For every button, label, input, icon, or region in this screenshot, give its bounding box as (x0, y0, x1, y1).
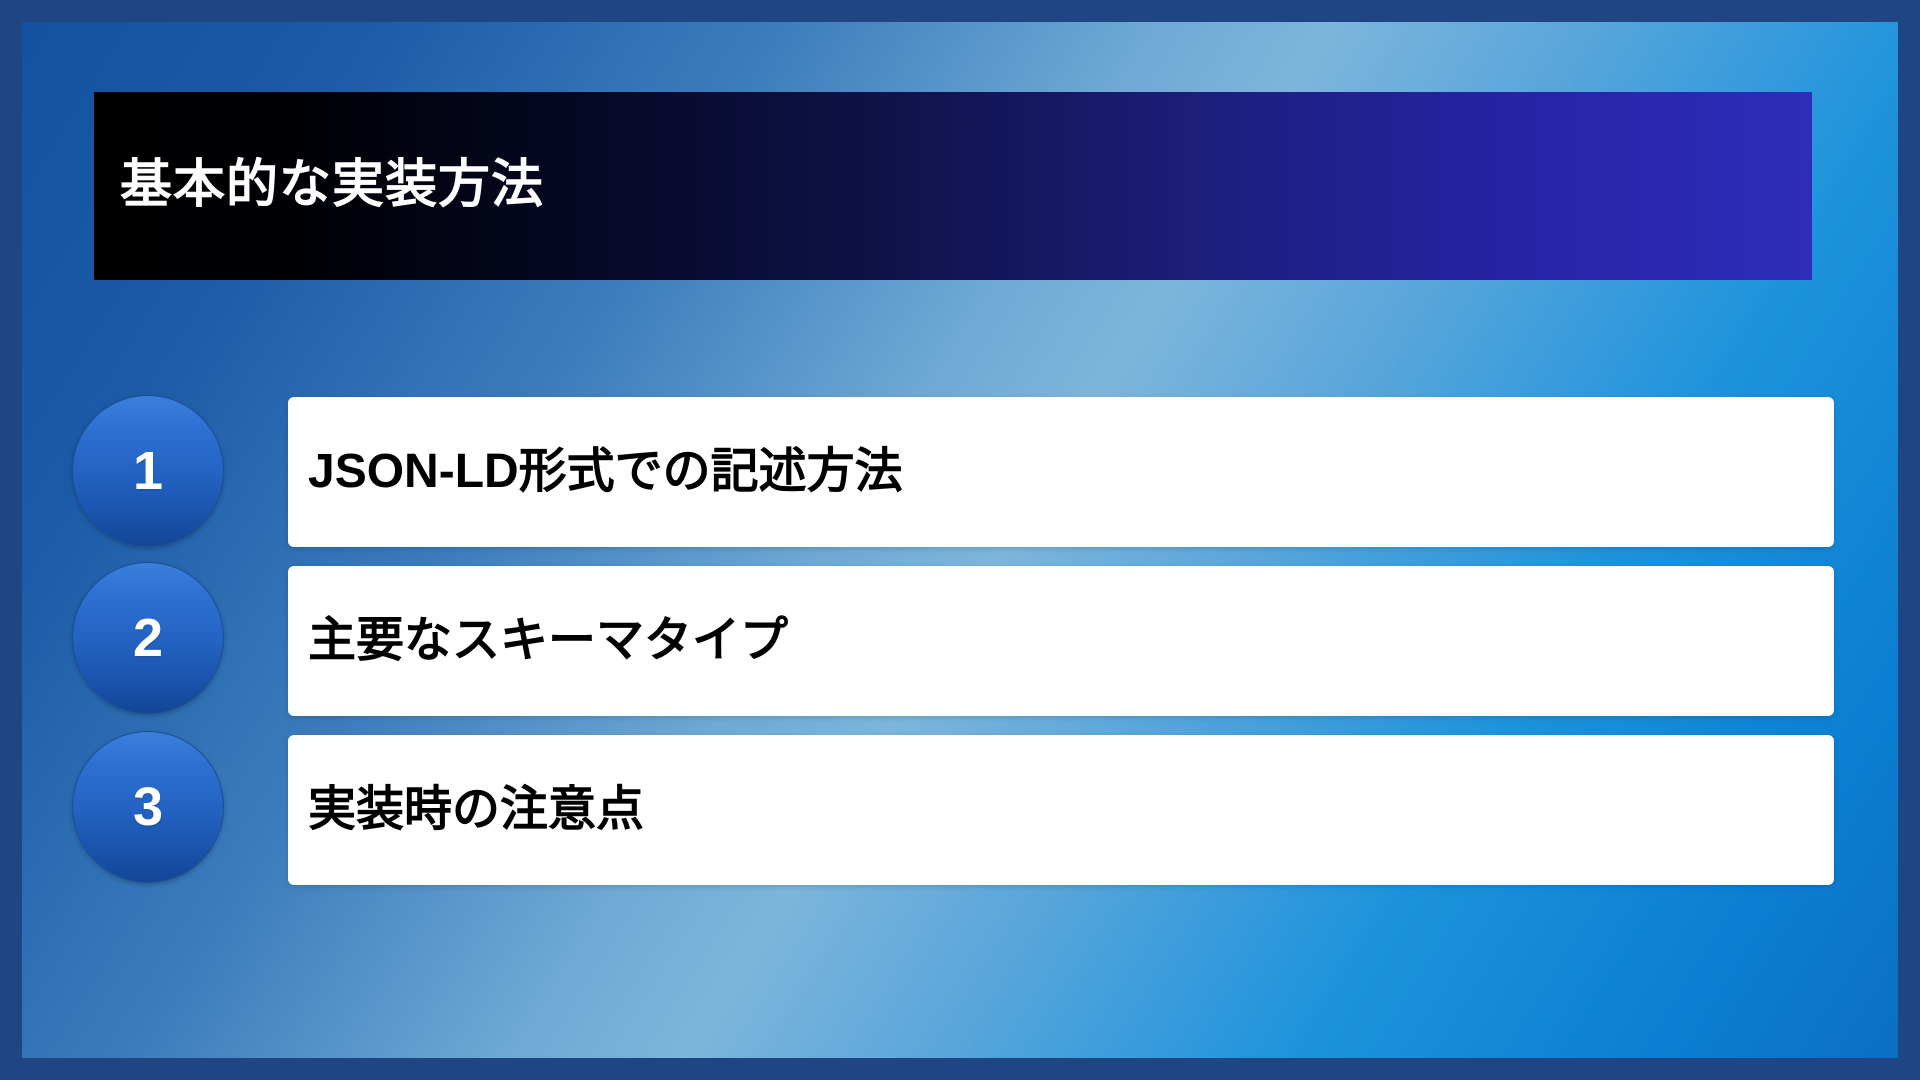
step-number-2: 2 (133, 611, 163, 665)
slide-frame: 基本的な実装方法 1 JSON-LD形式での記述方法 2 主要なスキーマタイプ (0, 0, 1920, 1080)
numbered-list: 1 JSON-LD形式での記述方法 2 主要なスキーマタイプ 3 (22, 375, 1898, 882)
step-number-badge-2: 2 (72, 562, 224, 714)
page-title: 基本的な実装方法 (94, 157, 544, 214)
list-item-card-1[interactable]: JSON-LD形式での記述方法 (288, 397, 1834, 547)
step-number-badge-3: 3 (72, 731, 224, 883)
list-item[interactable]: 2 主要なスキーマタイプ (22, 544, 1898, 694)
list-item-label-3: 実装時の注意点 (288, 782, 644, 837)
list-item-label-1: JSON-LD形式での記述方法 (288, 444, 903, 499)
list-item-card-3[interactable]: 実装時の注意点 (288, 735, 1834, 885)
list-item-label-2: 主要なスキーマタイプ (288, 613, 788, 668)
step-number-1: 1 (133, 444, 163, 498)
step-number-badge-1: 1 (72, 395, 224, 547)
list-item[interactable]: 3 実装時の注意点 (22, 713, 1898, 863)
slide-title-banner: 基本的な実装方法 (94, 92, 1812, 280)
slide-background-panel: 基本的な実装方法 1 JSON-LD形式での記述方法 2 主要なスキーマタイプ (22, 22, 1898, 1058)
list-item-card-2[interactable]: 主要なスキーマタイプ (288, 566, 1834, 716)
step-number-3: 3 (133, 780, 163, 834)
list-item[interactable]: 1 JSON-LD形式での記述方法 (22, 375, 1898, 525)
